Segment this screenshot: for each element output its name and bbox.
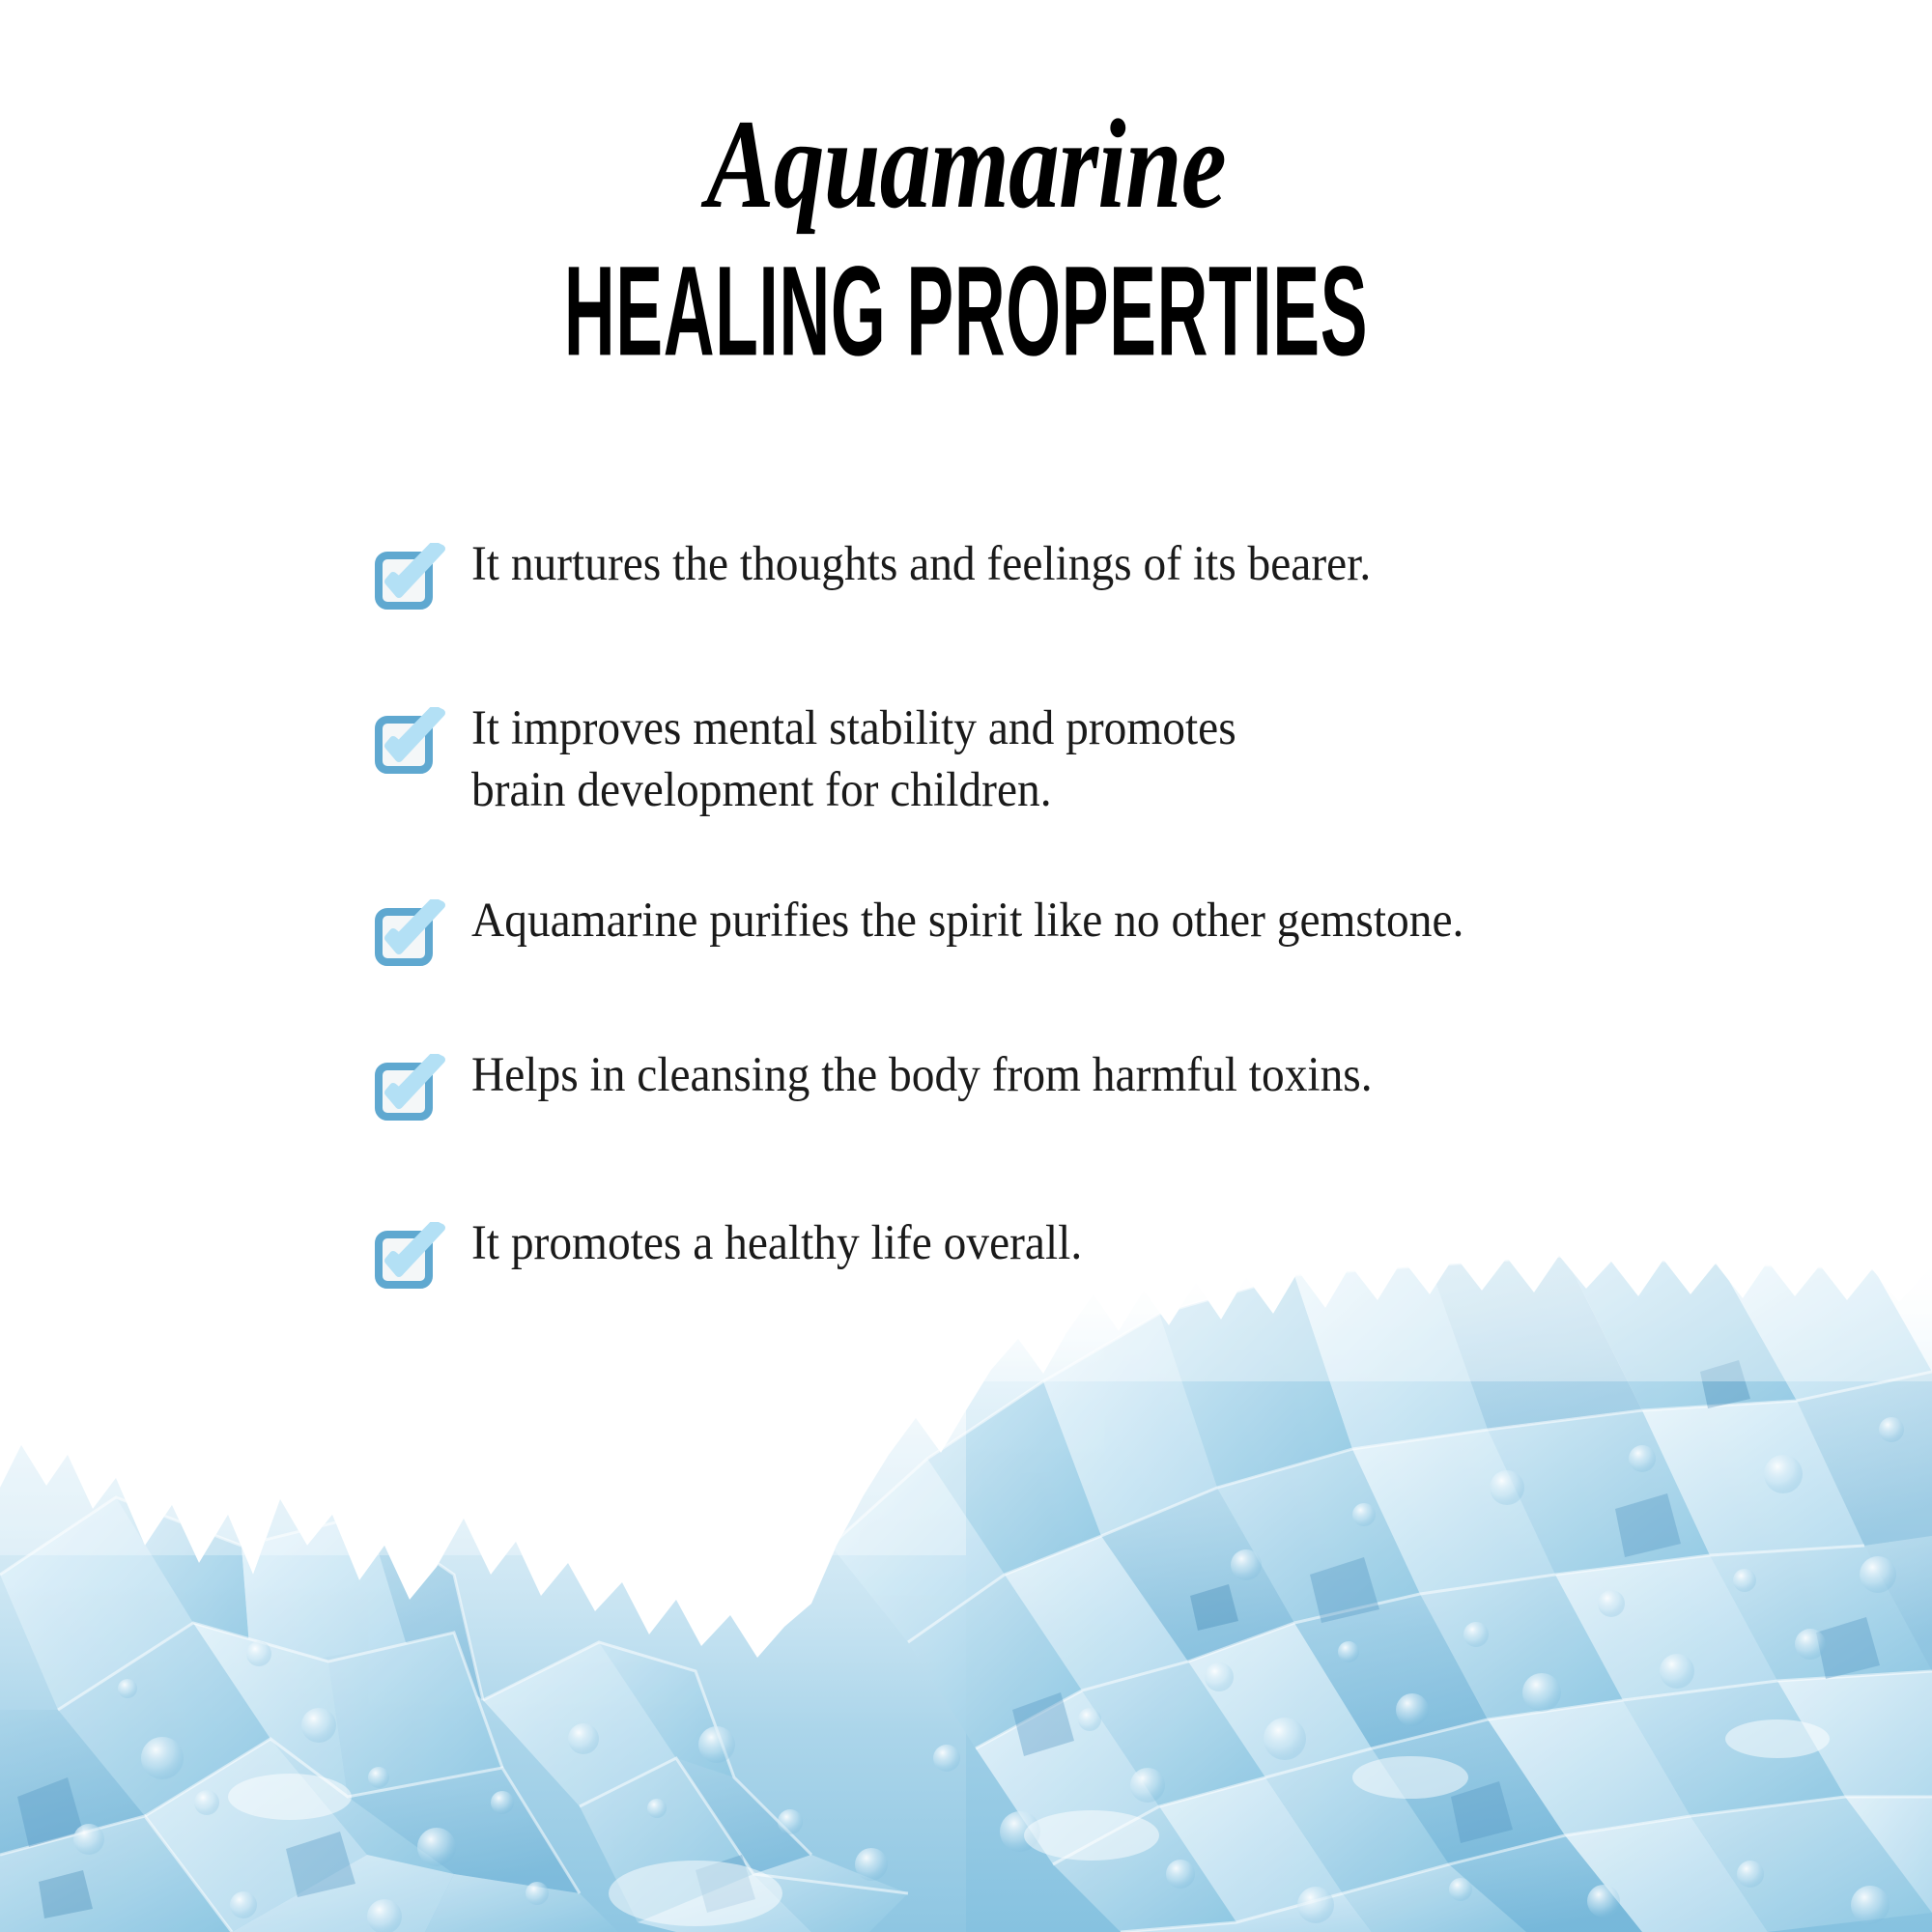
list-item-label: Helps in cleansing the body from harmful… [471, 1044, 1373, 1106]
list-item-label: It improves mental stability and promote… [471, 697, 1236, 822]
poster-header: Aquamarine HEALING PROPERTIES [0, 0, 1932, 367]
list-item: Helps in cleansing the body from harmful… [375, 1044, 1804, 1123]
list-item: It nurtures the thoughts and feelings of… [375, 533, 1804, 612]
list-item: Aquamarine purifies the spirit like no o… [375, 890, 1804, 969]
list-item-label: It nurtures the thoughts and feelings of… [471, 533, 1371, 595]
list-item: It improves mental stability and promote… [375, 697, 1804, 822]
ice-mass [0, 1256, 1932, 1932]
list-item-label: Aquamarine purifies the spirit like no o… [471, 890, 1463, 952]
checkbox-checked-icon[interactable] [375, 1222, 448, 1292]
poster-canvas: Aquamarine HEALING PROPERTIES It nurture… [0, 0, 1932, 1932]
checkbox-checked-icon[interactable] [375, 1054, 448, 1123]
checkbox-checked-icon[interactable] [375, 899, 448, 969]
checkbox-checked-icon[interactable] [375, 543, 448, 612]
list-item: It promotes a healthy life overall. [375, 1212, 1804, 1292]
ice-bubbles [73, 1417, 1904, 1932]
page-subtitle: HEALING PROPERTIES [367, 219, 1565, 375]
healing-properties-list: It nurtures the thoughts and feelings of… [375, 522, 1804, 1292]
crushed-ice-photo [0, 1256, 1932, 1932]
checkbox-checked-icon[interactable] [375, 707, 448, 777]
list-item-label: It promotes a healthy life overall. [471, 1212, 1082, 1274]
page-title: Aquamarine [193, 0, 1739, 228]
